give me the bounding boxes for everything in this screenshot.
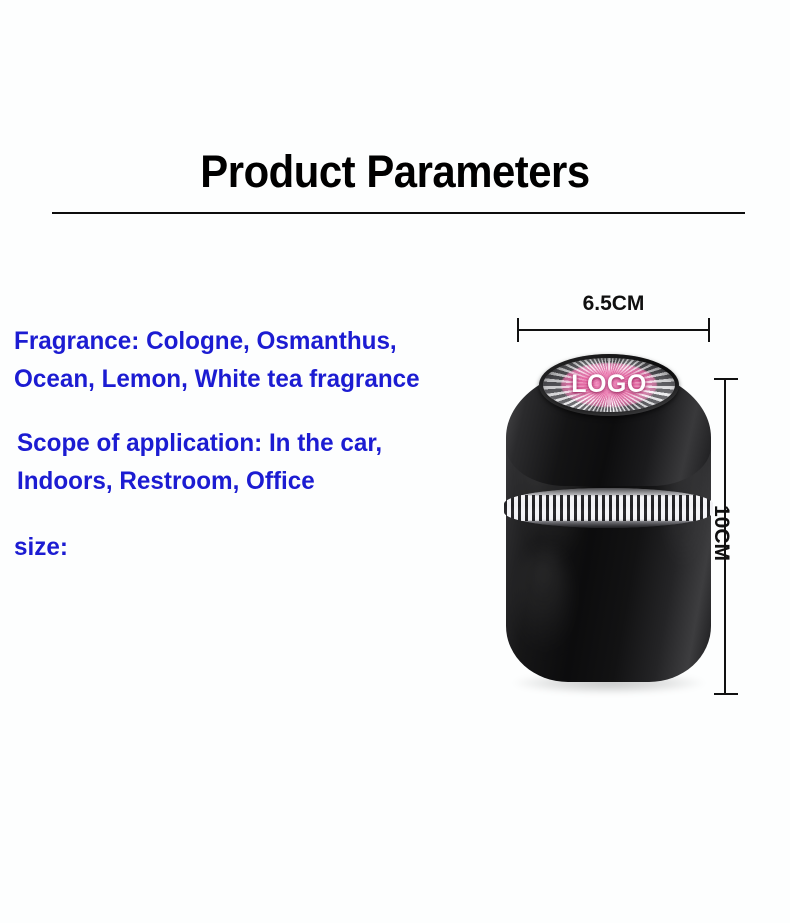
dimension-width-cap-right (708, 318, 710, 342)
spec-fragrance-line1: Fragrance: Cologne, Osmanthus, (14, 322, 485, 360)
chrome-band-mask-top (504, 488, 713, 497)
title-divider (52, 212, 745, 214)
spec-fragrance: Fragrance: Cologne, Osmanthus, Ocean, Le… (14, 322, 500, 398)
dimension-width-bar (517, 329, 710, 331)
product-logo-text: LOGO (539, 370, 679, 399)
chrome-band-mask-bottom (504, 519, 713, 528)
dimension-width-cap-left (517, 318, 519, 342)
spec-size-label: size: (14, 528, 485, 566)
top-vent: LOGO (539, 354, 679, 416)
spec-fragrance-line2: Ocean, Lemon, White tea fragrance (14, 360, 485, 398)
product-parameters-page: Product Parameters Fragrance: Cologne, O… (0, 0, 790, 923)
chrome-knurl-pattern (504, 495, 713, 521)
aroma-diffuser-device: LOGO (501, 342, 716, 684)
dimension-width-label: 6.5CM (517, 292, 710, 316)
specifications-list: Fragrance: Cologne, Osmanthus, Ocean, Le… (0, 322, 500, 566)
dimension-height-cap-top (714, 378, 738, 380)
spec-size: size: (14, 528, 500, 566)
spec-scope-line1: Scope of application: In the car, (17, 424, 486, 462)
title-block: Product Parameters (0, 148, 790, 195)
spec-scope-line2: Indoors, Restroom, Office (17, 462, 486, 500)
dimension-height-cap-bottom (714, 693, 738, 695)
body-highlight-lower (522, 552, 567, 657)
spec-scope: Scope of application: In the car, Indoor… (17, 424, 500, 500)
chrome-decorative-band (504, 488, 713, 528)
product-illustration: 6.5CM 10CM LOGO (480, 280, 790, 720)
page-title: Product Parameters (28, 148, 763, 195)
